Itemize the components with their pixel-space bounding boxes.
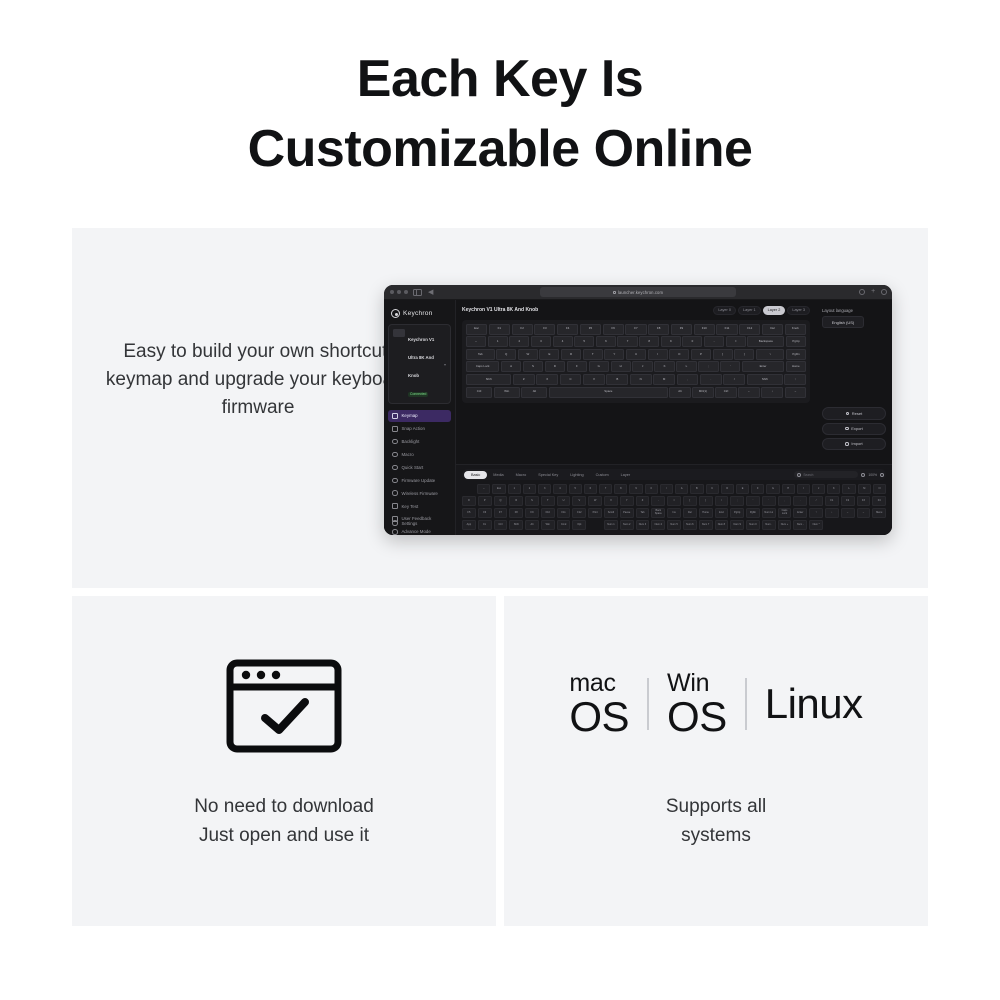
key-chip[interactable]: ' — [746, 496, 760, 506]
keycap[interactable]: 6 — [596, 336, 616, 347]
keycap[interactable]: V — [583, 374, 605, 385]
key-chip-row: AppFnCtrlShiftAltWinCmdOptNum 1Num 2Num … — [462, 520, 886, 530]
key-chip[interactable]: Num 6 — [683, 520, 697, 530]
feature-card-os-support: mac OS Win OS Linux Supports all systems — [504, 596, 928, 926]
key-chip[interactable]: F6 — [478, 508, 492, 518]
keycap[interactable]: Backspace — [747, 336, 784, 347]
sidebar-item-label: Wireless Firmware — [402, 491, 438, 496]
keycap[interactable]: R — [561, 349, 581, 360]
key-chip[interactable]: Menu — [872, 508, 886, 518]
key-chip[interactable]: 3 — [538, 484, 551, 494]
key-picker-tabs: Basic Media Macro Special Key Lighting C… — [462, 469, 886, 480]
layer-button-3[interactable]: Layer 3 — [787, 306, 810, 315]
address-bar[interactable]: launcher.keychron.com — [540, 287, 736, 297]
sidebar-item-snap-action[interactable]: Snap Action — [388, 423, 451, 435]
sidebar-item-label: Keymap — [402, 413, 418, 418]
key-chip-empty — [462, 484, 475, 494]
quickstart-icon — [392, 465, 398, 471]
back-chevron-icon[interactable]: ◀ — [428, 289, 433, 296]
keycap[interactable]: X — [536, 374, 558, 385]
key-chip[interactable]: . — [793, 496, 807, 506]
key-chip[interactable]: F — [751, 484, 764, 494]
keycap[interactable]: H — [611, 361, 631, 372]
key-chip[interactable]: Num 7 — [699, 520, 713, 530]
keycap[interactable]: PgDn — [786, 349, 806, 360]
keycap[interactable]: C — [560, 374, 582, 385]
snap-icon — [392, 426, 398, 432]
traffic-light-buttons[interactable] — [390, 290, 408, 294]
feature-card-no-download: No need to download Just open and use it — [72, 596, 496, 926]
key-chip[interactable]: F2 — [841, 496, 855, 506]
keycap[interactable]: F5 — [580, 324, 601, 335]
keyboard-pane: Keychron V1 Ultra 8K And Knob Layer 0 La… — [456, 300, 816, 464]
keycap[interactable]: Del — [762, 324, 783, 335]
key-chip[interactable]: Num + — [778, 520, 792, 530]
no-download-caption: No need to download Just open and use it — [72, 792, 496, 850]
key-chip[interactable]: Fn — [478, 520, 492, 530]
key-chip[interactable]: Num 1 — [604, 520, 618, 530]
keycap[interactable]: F9 — [671, 324, 692, 335]
key-chip-grid[interactable]: ~Esc1234567890/ABCDEFGHIJKLMNOPQRSTUVWXY… — [462, 484, 886, 530]
key-chip[interactable]: Num * — [809, 520, 823, 530]
keycap[interactable]: = — [726, 336, 746, 347]
zoom-out-icon[interactable] — [880, 473, 884, 477]
key-chip[interactable]: 5 — [569, 484, 582, 494]
key-chip[interactable]: F11 — [557, 508, 571, 518]
sidebar-item-label: Quick Start — [402, 465, 424, 470]
key-chip[interactable]: F3 — [857, 496, 871, 506]
key-chip[interactable]: Ctrl — [494, 520, 508, 530]
key-chip[interactable]: → — [857, 508, 871, 518]
keycap[interactable]: Space — [549, 387, 667, 398]
key-chip[interactable]: Num 2 — [620, 520, 634, 530]
caption-line1: No need to download — [194, 796, 374, 817]
key-chip[interactable]: F8 — [509, 508, 523, 518]
key-chip[interactable]: A — [675, 484, 688, 494]
keycap[interactable]: T — [583, 349, 603, 360]
page-title: Each Key Is Customizable Online — [0, 44, 1000, 184]
keycap[interactable]: 2 — [509, 336, 529, 347]
keycap[interactable]: Shift — [466, 374, 511, 385]
browser-titlebar: ◀ launcher.keychron.com + — [384, 285, 892, 300]
key-chip[interactable]: / — [809, 496, 823, 506]
key-chip[interactable]: F10 — [541, 508, 555, 518]
key-chip[interactable]: \ — [715, 496, 729, 506]
caption-line2: systems — [681, 825, 751, 846]
keycap[interactable]: F10 — [694, 324, 715, 335]
key-chip[interactable]: E — [736, 484, 749, 494]
key-chip[interactable]: F12 — [572, 508, 586, 518]
key-chip[interactable]: [ — [683, 496, 697, 506]
tab-layer[interactable]: Layer — [615, 473, 637, 477]
page-title-line1: Each Key Is — [357, 50, 643, 108]
key-chip[interactable]: Ins — [667, 508, 681, 518]
keycap[interactable]: E — [539, 349, 559, 360]
key-chip[interactable]: K — [827, 484, 840, 494]
keycap[interactable]: F — [567, 361, 587, 372]
keycap[interactable]: - — [704, 336, 724, 347]
layout-language-select[interactable]: English (US) — [822, 316, 864, 328]
device-name: Keychron V1 Ultra 8K And Knob — [408, 337, 434, 378]
key-chip[interactable]: Cmd — [557, 520, 571, 530]
keycap[interactable]: 4 — [553, 336, 573, 347]
key-chip[interactable]: Z — [636, 496, 650, 506]
key-chip[interactable]: Home — [699, 508, 713, 518]
sidebar-item-label: Backlight — [402, 439, 420, 444]
key-chip[interactable]: H — [782, 484, 795, 494]
keycap[interactable]: U — [626, 349, 646, 360]
key-chip[interactable]: ← — [841, 508, 855, 518]
keycap[interactable]: Esc — [466, 324, 487, 335]
key-chip[interactable]: App — [462, 520, 476, 530]
keyboard-row: ShiftZXCVBNM,./Shift↑ — [466, 374, 806, 385]
keycap[interactable]: 3 — [531, 336, 551, 347]
key-chip[interactable]: Tab — [636, 508, 650, 518]
key-chip[interactable]: C — [706, 484, 719, 494]
export-icon — [845, 427, 849, 431]
key-chip[interactable]: I — [797, 484, 810, 494]
key-chip[interactable]: M — [858, 484, 871, 494]
key-chip[interactable]: Num 3 — [636, 520, 650, 530]
reset-label: Reset — [852, 411, 862, 416]
os-divider-2 — [745, 678, 747, 730]
key-chip-row: OPQRSTUVWXYZ-=[]\;'`,./F1F2F3F4 — [462, 496, 886, 506]
new-tab-icon[interactable]: + — [870, 289, 876, 295]
os-macos: mac OS — [569, 670, 629, 738]
tab-basic[interactable]: Basic — [464, 471, 487, 479]
key-chip[interactable]: V — [572, 496, 586, 506]
keycap[interactable]: F1 — [489, 324, 510, 335]
titlebar-actions[interactable]: + — [859, 289, 887, 295]
app-body: Keychron Keychron V1 Ultra 8K And Knob C… — [384, 300, 892, 535]
key-chip[interactable]: Num 0 — [746, 520, 760, 530]
keycap[interactable]: Win — [494, 387, 520, 398]
key-chip[interactable]: T — [541, 496, 555, 506]
key-chip[interactable]: 9 — [629, 484, 642, 494]
caption-line2: Just open and use it — [199, 825, 369, 846]
keycap[interactable]: S — [523, 361, 543, 372]
lock-icon — [613, 291, 616, 294]
key-chip[interactable]: Enter — [793, 508, 807, 518]
key-chip[interactable]: 1 — [508, 484, 521, 494]
search-input[interactable]: Search — [794, 471, 858, 478]
gear-icon — [392, 520, 398, 526]
tabs-overview-icon[interactable] — [881, 289, 887, 295]
layer-button-1[interactable]: Layer 1 — [738, 306, 761, 315]
sidebar-item-label: Advance Mode — [402, 529, 431, 534]
keycap[interactable]: Alt — [521, 387, 547, 398]
key-chip[interactable]: Esc — [492, 484, 505, 494]
key-chip[interactable]: Pause — [620, 508, 634, 518]
key-chip[interactable]: End — [715, 508, 729, 518]
export-button[interactable]: Export — [822, 423, 886, 435]
key-chip[interactable]: 0 — [645, 484, 658, 494]
key-chip[interactable]: Num . — [762, 520, 776, 530]
keyboard-layout[interactable]: EscF1F2F3F4F5F6F7F8F9F10F11F12DelKnob~12… — [462, 320, 810, 404]
key-chip[interactable]: Num 4 — [651, 520, 665, 530]
keycap[interactable]: Y — [604, 349, 624, 360]
key-chip[interactable]: - — [651, 496, 665, 506]
key-chip[interactable]: 8 — [614, 484, 627, 494]
reset-icon — [846, 412, 850, 416]
key-chip-empty — [841, 520, 855, 530]
key-chip[interactable]: ] — [699, 496, 713, 506]
import-button[interactable]: Import — [822, 438, 886, 450]
os-divider-1 — [647, 678, 649, 730]
keycap[interactable]: Q — [496, 349, 516, 360]
sidebar-item-settings[interactable]: Settings — [388, 517, 451, 529]
keycap[interactable]: F4 — [557, 324, 578, 335]
key-chip[interactable]: / — [660, 484, 673, 494]
keycap[interactable]: W — [518, 349, 538, 360]
key-chip[interactable]: F7 — [494, 508, 508, 518]
keycap[interactable]: → — [785, 387, 806, 398]
keymap-editor: Keychron V1 Ultra 8K And Knob Layer 0 La… — [456, 300, 892, 464]
close-icon[interactable] — [390, 290, 394, 294]
keycap[interactable]: F12 — [739, 324, 760, 335]
zoom-level: 100% — [868, 473, 877, 477]
key-chip[interactable]: R — [509, 496, 523, 506]
keycap[interactable]: B — [606, 374, 628, 385]
sidebar-item-label: Snap Action — [402, 426, 425, 431]
key-chip[interactable]: D — [721, 484, 734, 494]
key-chip[interactable]: ` — [762, 496, 776, 506]
key-chip[interactable]: Opt — [572, 520, 586, 530]
key-chip[interactable]: Scroll — [604, 508, 618, 518]
keycap[interactable]: Ctrl — [466, 387, 492, 398]
minimize-icon[interactable] — [397, 290, 401, 294]
key-chip[interactable]: S — [525, 496, 539, 506]
sidebar-item-firmware-update[interactable]: Firmware Update — [388, 474, 451, 486]
sidebar-item-macro[interactable]: Macro — [388, 449, 451, 461]
keycap[interactable]: Shift — [747, 374, 783, 385]
key-chip[interactable]: ~ — [477, 484, 490, 494]
keyboard-title: Keychron V1 Ultra 8K And Knob — [462, 307, 538, 313]
key-chip[interactable]: Alt — [525, 520, 539, 530]
keycap[interactable]: D — [545, 361, 565, 372]
key-chip[interactable]: X — [604, 496, 618, 506]
keycap[interactable]: [ — [713, 349, 733, 360]
key-chip[interactable]: B — [690, 484, 703, 494]
keycap[interactable]: J — [632, 361, 652, 372]
key-chip[interactable]: Num 8 — [715, 520, 729, 530]
os-logos: mac OS Win OS Linux — [504, 670, 928, 738]
keycap[interactable]: I — [648, 349, 668, 360]
app-sidebar: Keychron Keychron V1 Ultra 8K And Knob C… — [384, 300, 456, 535]
os-macos-suffix: OS — [569, 696, 629, 738]
chevron-down-icon[interactable]: ▾ — [444, 362, 446, 367]
page-title-line2: Customizable Online — [0, 114, 1000, 184]
panel-actions: Reset Export Import — [822, 407, 886, 450]
tab-special-key[interactable]: Special Key — [532, 473, 564, 477]
key-chip[interactable]: ; — [730, 496, 744, 506]
keycap[interactable]: Alt — [669, 387, 690, 398]
keycap[interactable]: P — [691, 349, 711, 360]
keycap[interactable]: F11 — [716, 324, 737, 335]
keycap[interactable]: Caps Lock — [466, 361, 499, 372]
os-windows-suffix: OS — [667, 696, 727, 738]
app-main: Keychron V1 Ultra 8K And Knob Layer 0 La… — [456, 300, 892, 535]
key-chip[interactable]: Y — [620, 496, 634, 506]
key-chip[interactable]: Caps Lock — [778, 508, 792, 518]
keycap[interactable]: ~ — [466, 336, 486, 347]
layout-language-label: Layout language — [822, 308, 886, 313]
sidebar-item-label: Key Test — [402, 504, 419, 509]
keycap[interactable]: M — [653, 374, 675, 385]
keycap[interactable]: Enter — [742, 361, 784, 372]
share-icon[interactable] — [859, 289, 865, 295]
key-chip[interactable]: Num 9 — [730, 520, 744, 530]
keyboard-header: Keychron V1 Ultra 8K And Knob Layer 0 La… — [462, 306, 810, 315]
tab-custom[interactable]: Custom — [590, 473, 615, 477]
key-chip[interactable]: Num Lk — [762, 508, 776, 518]
key-chip[interactable]: U — [557, 496, 571, 506]
keycap[interactable]: G — [589, 361, 609, 372]
key-chip[interactable]: Num 5 — [667, 520, 681, 530]
key-chip-row: ~Esc1234567890/ABCDEFGHIJKLMN — [462, 484, 886, 494]
key-chip[interactable]: Back Space — [651, 508, 665, 518]
key-chip[interactable]: 6 — [584, 484, 597, 494]
key-chip[interactable]: 4 — [553, 484, 566, 494]
key-chip[interactable]: PgDn — [746, 508, 760, 518]
keycap[interactable]: A — [501, 361, 521, 372]
keyboard-row: TabQWERTYUIOP[]\PgDn — [466, 349, 806, 360]
key-chip[interactable]: Win — [541, 520, 555, 530]
firmware-icon — [392, 478, 398, 484]
keycap[interactable]: Ctrl — [715, 387, 736, 398]
key-chip[interactable]: P — [478, 496, 492, 506]
key-chip[interactable]: Q — [494, 496, 508, 506]
import-label: Import — [851, 441, 862, 446]
keycap[interactable]: N — [630, 374, 652, 385]
tab-media[interactable]: Media — [487, 473, 509, 477]
maximize-icon[interactable] — [404, 290, 408, 294]
key-chip[interactable]: W — [588, 496, 602, 506]
keycap[interactable]: , — [677, 374, 699, 385]
tab-macro[interactable]: Macro — [510, 473, 533, 477]
key-chip[interactable]: Num - — [793, 520, 807, 530]
keycap[interactable]: ' — [720, 361, 740, 372]
key-chip[interactable]: F1 — [825, 496, 839, 506]
zoom-in-icon[interactable] — [861, 473, 865, 477]
keycap[interactable]: \ — [756, 349, 785, 360]
keycap[interactable]: PgUp — [786, 336, 806, 347]
reset-button[interactable]: Reset — [822, 407, 886, 419]
keycap[interactable]: 7 — [617, 336, 637, 347]
keycap[interactable]: Z — [513, 374, 535, 385]
keycap[interactable]: ] — [734, 349, 754, 360]
key-picker: Basic Media Macro Special Key Lighting C… — [456, 464, 892, 535]
key-chip[interactable]: Del — [683, 508, 697, 518]
tab-lighting[interactable]: Lighting — [564, 473, 589, 477]
key-chip[interactable]: J — [812, 484, 825, 494]
sidebar-item-backlight[interactable]: Backlight — [388, 436, 451, 448]
keycap[interactable]: / — [723, 374, 745, 385]
key-chip-row: F5F6F7F8F9F10F11F12PrintScrollPauseTabBa… — [462, 508, 886, 518]
keycap[interactable]: F3 — [534, 324, 555, 335]
launcher-card-copy: Easy to build your own shortcut, keymap … — [88, 338, 428, 422]
key-chip[interactable]: N — [873, 484, 886, 494]
sidebar-item-quick-start[interactable]: Quick Start — [388, 462, 451, 474]
keycap[interactable]: K — [654, 361, 674, 372]
key-chip[interactable]: Print — [588, 508, 602, 518]
keycap[interactable]: 1 — [488, 336, 508, 347]
device-selector[interactable]: Keychron V1 Ultra 8K And Knob Connected … — [388, 324, 451, 404]
keycap[interactable]: L — [676, 361, 696, 372]
keycap[interactable]: F8 — [648, 324, 669, 335]
keycap[interactable]: 0 — [682, 336, 702, 347]
keycap[interactable]: ↓ — [761, 387, 782, 398]
sidebar-item-key-test[interactable]: Key Test — [388, 500, 451, 512]
keycap[interactable]: Home — [786, 361, 806, 372]
key-chip[interactable]: 7 — [599, 484, 612, 494]
keycap[interactable]: O — [669, 349, 689, 360]
keycap[interactable]: . — [700, 374, 722, 385]
macro-icon — [392, 452, 398, 458]
keycap[interactable]: F6 — [603, 324, 624, 335]
search-icon — [797, 473, 801, 477]
key-chip[interactable]: Shift — [509, 520, 523, 530]
keycap[interactable]: 5 — [574, 336, 594, 347]
key-chip[interactable]: ↑ — [809, 508, 823, 518]
keymap-options-panel: Layout language English (US) Reset Expor… — [816, 300, 892, 464]
key-chip[interactable]: = — [667, 496, 681, 506]
sidebar-item-label: Macro — [402, 452, 414, 457]
key-chip[interactable]: PgUp — [730, 508, 744, 518]
keycap[interactable]: MO(1) — [692, 387, 713, 398]
export-label: Export — [851, 426, 863, 431]
caption-line1: Supports all — [666, 796, 766, 817]
backlight-icon — [392, 439, 398, 445]
key-chip-empty — [825, 520, 839, 530]
sidebar-toggle-icon[interactable] — [413, 289, 422, 296]
key-chip[interactable]: F5 — [462, 508, 476, 518]
layer-selector: Layer 0 Layer 1 Layer 2 Layer 3 — [713, 306, 810, 315]
picker-tools: Search 100% — [794, 471, 884, 478]
key-chip-empty — [857, 520, 871, 530]
keymap-icon — [392, 413, 398, 419]
keycap[interactable]: Knob — [785, 324, 806, 335]
layer-button-2[interactable]: Layer 2 — [763, 306, 786, 315]
key-chip[interactable]: G — [766, 484, 779, 494]
key-chip[interactable]: O — [462, 496, 476, 506]
wireless-icon — [392, 490, 398, 496]
keycap[interactable]: ← — [738, 387, 759, 398]
layer-button-0[interactable]: Layer 0 — [713, 306, 736, 315]
key-chip[interactable]: L — [842, 484, 855, 494]
device-status-badge: Connected — [408, 392, 428, 397]
keycap[interactable]: ↑ — [784, 374, 806, 385]
keycap[interactable]: F7 — [625, 324, 646, 335]
key-chip[interactable]: F9 — [525, 508, 539, 518]
sidebar-item-keymap[interactable]: Keymap — [388, 410, 451, 422]
key-chip[interactable]: F4 — [872, 496, 886, 506]
page-root: Each Key Is Customizable Online Easy to … — [0, 0, 1000, 1000]
device-thumbnail-icon — [393, 329, 405, 337]
key-chip-empty — [588, 520, 602, 530]
keytest-icon — [392, 503, 398, 509]
keycap[interactable]: 9 — [661, 336, 681, 347]
key-chip[interactable]: , — [778, 496, 792, 506]
sidebar-item-wireless-firmware[interactable]: Wireless Firmware — [388, 487, 451, 499]
key-chip[interactable]: 2 — [523, 484, 536, 494]
keycap[interactable]: Tab — [466, 349, 495, 360]
keycap[interactable]: ; — [698, 361, 718, 372]
search-placeholder: Search — [803, 473, 813, 477]
keycap[interactable]: 8 — [639, 336, 659, 347]
keycap[interactable]: F2 — [512, 324, 533, 335]
key-chip[interactable]: ↓ — [825, 508, 839, 518]
